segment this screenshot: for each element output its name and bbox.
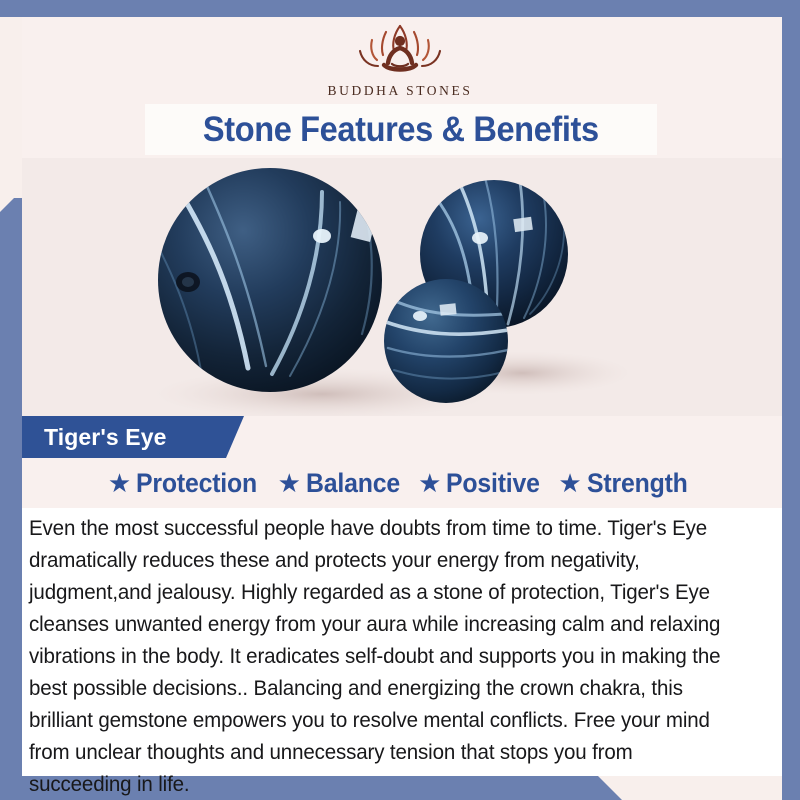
infographic-page: BUDDHA STONES bbox=[0, 0, 800, 800]
star-icon: ★ bbox=[108, 470, 131, 496]
benefit-label: Strength bbox=[587, 468, 688, 499]
page-title: Stone Features & Benefits bbox=[203, 110, 599, 150]
benefit-label: Positive bbox=[446, 468, 540, 499]
benefit-label: Balance bbox=[306, 468, 400, 499]
star-icon: ★ bbox=[418, 470, 441, 496]
description-text: Even the most successful people have dou… bbox=[29, 512, 731, 800]
benefit-item-protection: ★ Protection bbox=[108, 468, 268, 499]
frame-band-right bbox=[782, 0, 800, 800]
lotus-meditation-figure-icon bbox=[336, 18, 464, 80]
benefits-list: ★ Protection ★ Balance ★ Positive ★ Stre… bbox=[22, 462, 782, 504]
star-icon: ★ bbox=[278, 470, 301, 496]
benefit-label: Protection bbox=[136, 468, 257, 499]
product-photo bbox=[22, 158, 782, 416]
product-name-banner: Tiger's Eye bbox=[22, 416, 244, 458]
product-name: Tiger's Eye bbox=[22, 424, 167, 451]
star-icon: ★ bbox=[558, 470, 581, 496]
brand-logo: BUDDHA STONES bbox=[0, 18, 800, 99]
page-title-banner: Stone Features & Benefits bbox=[145, 104, 657, 155]
brand-wordmark: BUDDHA STONES bbox=[0, 83, 800, 99]
description-panel: Even the most successful people have dou… bbox=[22, 508, 782, 776]
stone-spheres-image bbox=[22, 158, 782, 416]
benefit-item-balance: ★ Balance bbox=[278, 468, 408, 499]
frame-band-top bbox=[0, 0, 800, 17]
frame-band-left bbox=[0, 198, 22, 800]
benefit-item-strength: ★ Strength bbox=[558, 468, 696, 499]
benefit-item-positive: ★ Positive bbox=[418, 468, 548, 499]
